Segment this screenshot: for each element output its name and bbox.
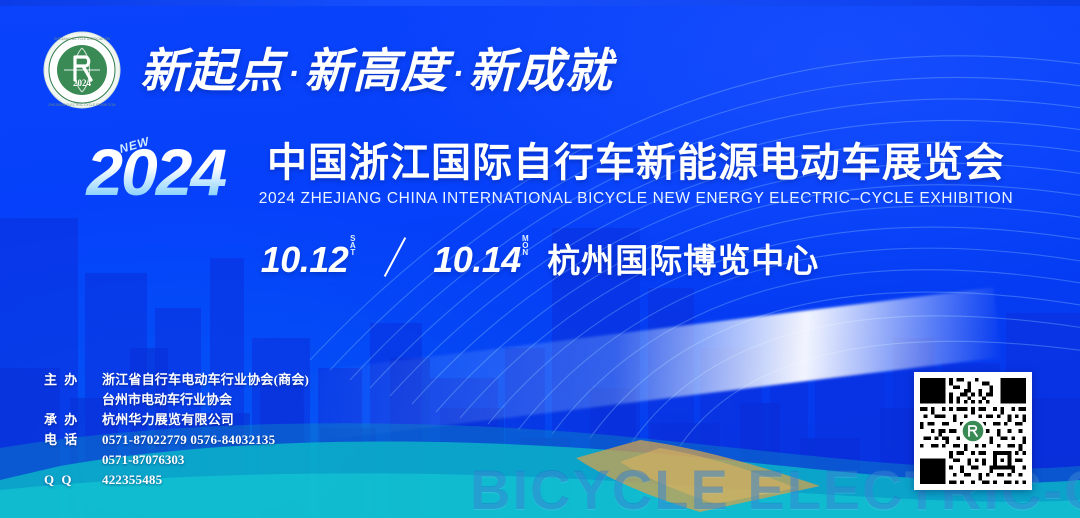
date-end-weekday: MON xyxy=(522,234,529,255)
slogan-separator-1: · xyxy=(284,55,304,93)
slogan-text: 新起点·新高度·新成就 xyxy=(140,47,613,94)
organizer-value-2: 台州市电动车行业协会 xyxy=(102,390,309,410)
organizer-label: 主 办 xyxy=(44,370,102,390)
slogan-part-1: 新起点 xyxy=(140,44,284,97)
qr-center-emblem-icon xyxy=(960,418,986,444)
date-start: 10.12 xyxy=(261,239,349,280)
year-logo: 2024 NEW xyxy=(67,136,245,208)
undertaker-label: 承 办 xyxy=(44,410,102,430)
slogan-part-2: 新高度 xyxy=(304,44,448,97)
organizer-value-1: 浙江省自行车电动车行业协会(商会) xyxy=(102,370,309,390)
title-chinese: 中国浙江国际自行车新能源电动车展览会 xyxy=(259,140,1014,186)
qq-label: Q Q xyxy=(44,470,102,490)
date-start-weekday: SAT xyxy=(349,234,356,255)
emblem-year-text: 2024 xyxy=(73,78,92,88)
date-venue-row: 10.12SAT 10.14MON 杭州国际博览中心 xyxy=(0,234,1080,282)
header-slogan-bar: 2024 ZHEJIANG BICYCLE ASSOCIATION ZHEJIA… xyxy=(42,30,613,110)
qq-value: 422355485 xyxy=(102,470,162,490)
phone-label: 电 话 xyxy=(44,430,102,450)
svg-text:ZHEJIANG BICYCLE ASSOCIATION: ZHEJIANG BICYCLE ASSOCIATION xyxy=(54,37,110,41)
top-edge-band xyxy=(0,0,1080,6)
exhibition-poster: BICYCLE ELECTRIC-CYCLE 2024 ZHEJIANG BIC… xyxy=(0,0,1080,518)
contact-info-block: 主 办 浙江省自行车电动车行业协会(商会) 台州市电动车行业协会 承 办 杭州华… xyxy=(44,370,309,490)
undertaker-value: 杭州华力展览有限公司 xyxy=(102,410,234,430)
contact-row-phone: 电 话 0571-87022779 0576-84032135 xyxy=(44,430,309,450)
title-english: 2024 ZHEJIANG CHINA INTERNATIONAL BICYCL… xyxy=(259,190,1014,208)
main-title-block: 2024 NEW 中国浙江国际自行车新能源电动车展览会 2024 ZHEJIAN… xyxy=(0,140,1080,208)
year-suffix: 24 xyxy=(156,135,225,209)
contact-row-undertaker: 承 办 杭州华力展览有限公司 xyxy=(44,410,309,430)
date-separator xyxy=(384,237,406,277)
contact-row-qq: Q Q 422355485 xyxy=(44,470,309,490)
contact-row-organizer: 主 办 浙江省自行车电动车行业协会(商会) xyxy=(44,370,309,390)
svg-text:ZHEJIANG ELECTRIC CYCLE EXHIBI: ZHEJIANG ELECTRIC CYCLE EXHIBITION xyxy=(49,103,116,107)
slogan-part-3: 新成就 xyxy=(469,44,613,97)
venue-name: 杭州国际博览中心 xyxy=(547,242,819,279)
phone-value-2: 0571-87076303 xyxy=(102,450,309,470)
phone-value-1: 0571-87022779 0576-84032135 xyxy=(102,430,275,450)
date-end: 10.14 xyxy=(433,239,521,280)
qr-code[interactable] xyxy=(914,372,1032,490)
year-logo-text: 2024 xyxy=(67,136,245,208)
association-emblem-icon: 2024 ZHEJIANG BICYCLE ASSOCIATION ZHEJIA… xyxy=(42,30,122,110)
slogan-separator-2: · xyxy=(448,55,468,93)
